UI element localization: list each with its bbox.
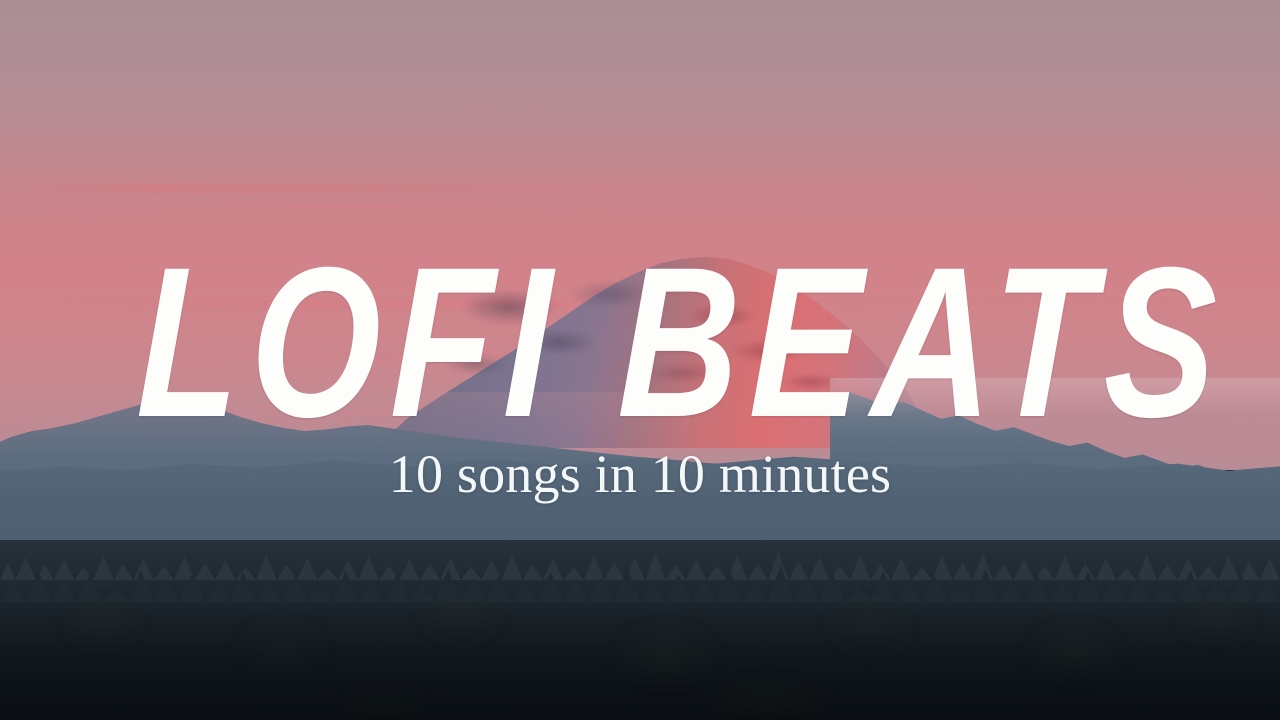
video-thumbnail: LOFI BEATS 10 songs in 10 minutes [0,0,1280,720]
cloud-streak [0,206,1280,210]
forest-vignette [0,600,1280,720]
thumbnail-subtitle: 10 songs in 10 minutes [0,447,1280,501]
cloud-streak [0,186,1280,191]
thumbnail-title: LOFI BEATS [135,236,1139,450]
cloud-streak [0,112,1280,116]
